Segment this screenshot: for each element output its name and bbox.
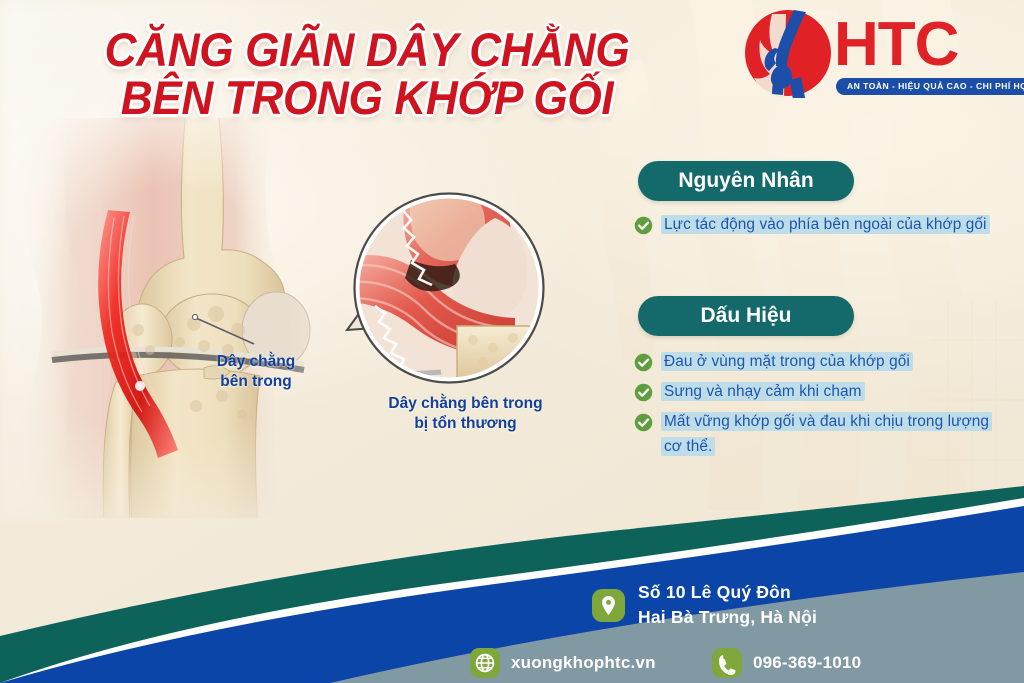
list-item-text: Sưng và nhạy cảm khi chạm [661, 380, 865, 405]
list-item: Mất vững khớp gối và đau khi chịu trong … [634, 410, 1024, 460]
list-item: Đau ở vùng mặt trong của khớp gối [634, 350, 1024, 375]
list-item-text: Mất vững khớp gối và đau khi chịu trong … [661, 410, 991, 460]
title-line-2: BÊN TRONG KHỚP GỐI [90, 74, 645, 122]
section-heading-signs: Dấu Hiệu [638, 296, 854, 336]
footer-website[interactable]: xuongkhophtc.vn [470, 648, 656, 678]
signs-item-2: Mất vững khớp gối và đau khi chịu trong … [661, 412, 992, 456]
causes-item-0: Lực tác động vào phía bên ngoài của khớp… [661, 215, 990, 234]
logo-tagline: AN TOÀN - HIỆU QUẢ CAO - CHI PHÍ HỢP LÝ [836, 78, 1024, 95]
location-pin-icon [592, 589, 625, 622]
globe-icon [470, 648, 500, 678]
section-heading-causes: Nguyên Nhân [638, 161, 854, 201]
logo-wordmark: HTC [834, 14, 958, 76]
list-item: Sưng và nhạy cảm khi chạm [634, 380, 1024, 405]
footer-address-text: Số 10 Lê Quý Đôn Hai Bà Trưng, Hà Nội [638, 580, 817, 631]
magnified-torn-ligament-detail [345, 188, 550, 393]
footer-website-text: xuongkhophtc.vn [511, 651, 656, 676]
label-mcl-line-1: Dây chằng [196, 352, 316, 372]
label-mcl-line-2: bên trong [196, 372, 316, 392]
phone-icon [712, 648, 742, 678]
label-medial-collateral-ligament: Dây chằng bên trong [196, 352, 316, 392]
footer-phone[interactable]: 096-369-1010 [712, 648, 861, 678]
caption-torn-ligament: Dây chằng bên trong bị tổn thương [368, 394, 563, 434]
infographic-canvas: CĂNG GIÃN DÂY CHẰNG BÊN TRONG KHỚP GỐI H… [0, 0, 1024, 683]
address-line-2: Hai Bà Trưng, Hà Nội [638, 605, 817, 630]
list-item-text: Đau ở vùng mặt trong của khớp gối [661, 350, 913, 375]
check-circle-icon [634, 353, 653, 372]
signs-list: Đau ở vùng mặt trong của khớp gối Sưng v… [634, 350, 1024, 465]
signs-item-1: Sưng và nhạy cảm khi chạm [661, 382, 865, 401]
htc-logo[interactable]: HTC AN TOÀN - HIỆU QUẢ CAO - CHI PHÍ HỢP… [742, 8, 1014, 104]
address-line-1: Số 10 Lê Quý Đôn [638, 580, 817, 605]
knee-joint-logo-icon [742, 8, 834, 98]
list-item: Lực tác động vào phía bên ngoài của khớp… [634, 213, 994, 238]
caption-torn-line-2: bị tổn thương [368, 414, 563, 434]
signs-item-0: Đau ở vùng mặt trong của khớp gối [661, 352, 913, 371]
title-line-1: CĂNG GIÃN DÂY CHẰNG [105, 23, 630, 76]
footer-phone-text: 096-369-1010 [753, 651, 861, 676]
list-item-text: Lực tác động vào phía bên ngoài của khớp… [661, 213, 990, 238]
check-circle-icon [634, 413, 653, 432]
caption-torn-line-1: Dây chằng bên trong [368, 394, 563, 414]
causes-list: Lực tác động vào phía bên ngoài của khớp… [634, 213, 994, 243]
check-circle-icon [634, 216, 653, 235]
page-title: CĂNG GIÃN DÂY CHẰNG BÊN TRONG KHỚP GỐI [90, 26, 645, 122]
footer-address: Số 10 Lê Quý Đôn Hai Bà Trưng, Hà Nội [592, 580, 817, 631]
check-circle-icon [634, 383, 653, 402]
